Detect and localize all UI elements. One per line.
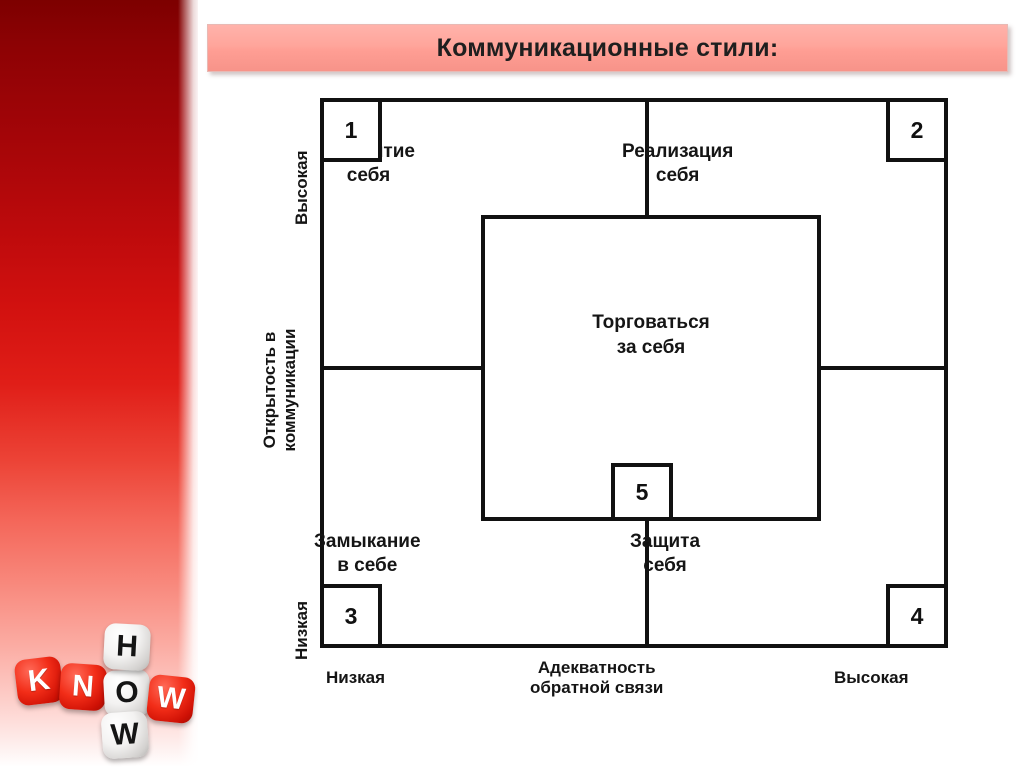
die-k: K xyxy=(13,655,64,706)
quadrant-number-2: 2 xyxy=(886,98,948,162)
die-w-bottom: W xyxy=(100,710,149,759)
x-axis-title: Адекватность обратной связи xyxy=(530,658,663,699)
quadrant-3-line1: Замыкание xyxy=(314,531,421,552)
die-h: H xyxy=(103,623,151,671)
quadrant-4-line1: Защита xyxy=(630,531,700,552)
center-label-line2: за себя xyxy=(617,337,686,358)
die-n: N xyxy=(58,662,107,711)
x-axis-high-label: Высокая xyxy=(834,668,909,688)
slide-title-banner: Коммуникационные стили: xyxy=(207,24,1008,72)
die-w-right: W xyxy=(146,674,197,725)
y-axis-labels: Высокая Открытость в коммуникации Низкая xyxy=(230,90,320,650)
communication-styles-matrix: Высокая Открытость в коммуникации Низкая… xyxy=(230,90,990,730)
center-box-label: Торговаться за себя xyxy=(485,311,817,360)
quadrant-label-withdraw-self: Замыкание в себе xyxy=(314,530,421,579)
center-number-5: 5 xyxy=(611,463,673,521)
quadrant-4-line2: себя xyxy=(643,555,686,576)
quadrant-number-1: 1 xyxy=(320,98,382,162)
know-how-dice-logo: K N O W H W xyxy=(8,612,198,752)
y-axis-high-label: Высокая xyxy=(292,150,312,225)
quadrant-number-4: 4 xyxy=(886,584,948,648)
quadrant-3-line2: в себе xyxy=(337,555,397,576)
center-label-line1: Торговаться xyxy=(592,312,710,333)
die-o: O xyxy=(103,669,151,717)
quadrant-label-realize-self: Реализация себя xyxy=(622,140,733,189)
quadrant-1-line2: себя xyxy=(347,165,390,186)
y-axis-title: Открытость в коммуникации xyxy=(260,290,300,490)
x-axis-title-line2: обратной связи xyxy=(530,678,663,697)
quadrant-2-line2: себя xyxy=(656,165,699,186)
quadrant-2-line1: Реализация xyxy=(622,141,733,162)
y-axis-low-label: Низкая xyxy=(292,601,312,660)
x-axis-title-line1: Адекватность xyxy=(538,658,656,677)
quadrant-label-defend-self: Защита себя xyxy=(630,530,700,579)
y-axis-title-line1: Открытость в xyxy=(260,332,279,449)
y-axis-title-line2: коммуникации xyxy=(280,329,299,452)
x-axis-low-label: Низкая xyxy=(326,668,385,688)
page-title: Коммуникационные стили: xyxy=(437,34,779,63)
quadrant-number-3: 3 xyxy=(320,584,382,648)
